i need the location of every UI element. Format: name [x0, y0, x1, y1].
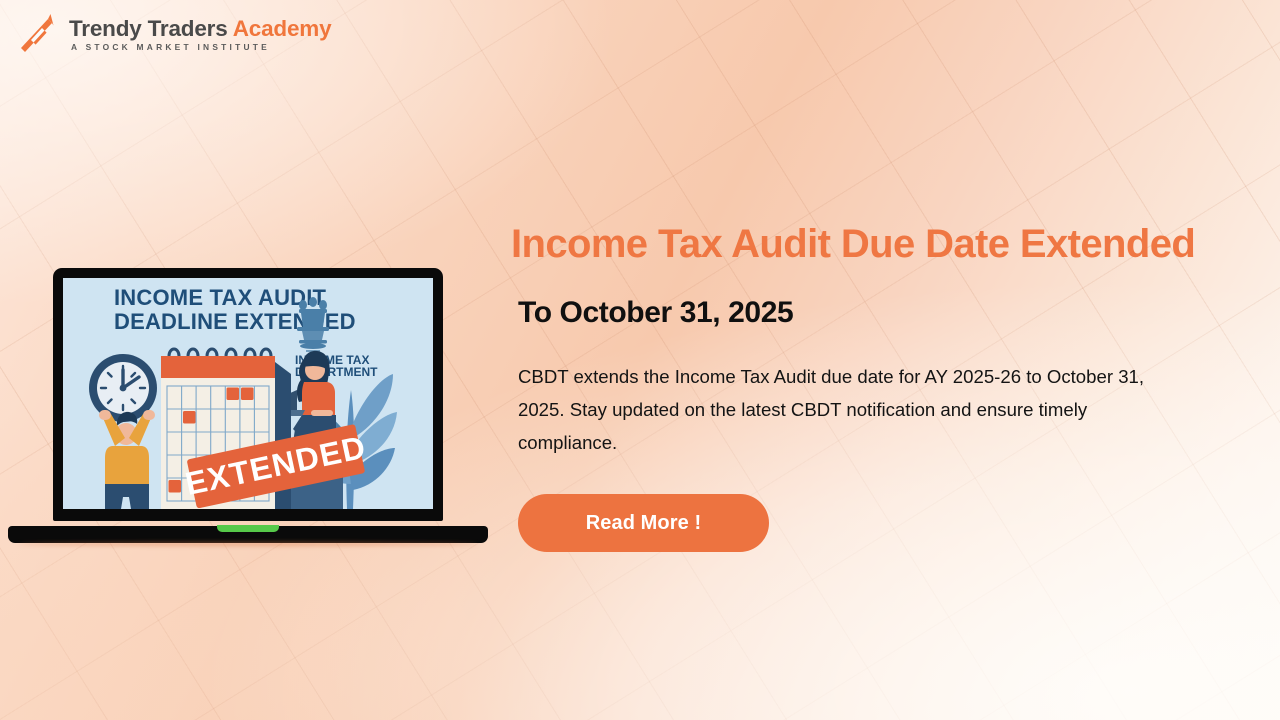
hero-description: CBDT extends the Income Tax Audit due da…	[518, 360, 1190, 459]
laptop-trackpad-indicator	[217, 525, 279, 532]
brand-tagline: A STOCK MARKET INSTITUTE	[69, 42, 331, 52]
page-title: Income Tax Audit Due Date Extended	[511, 222, 1271, 266]
brand-name-accent: Academy	[233, 16, 332, 41]
page-subtitle: To October 31, 2025	[518, 296, 1271, 330]
read-more-button[interactable]: Read More !	[518, 494, 769, 552]
laptop-shadow	[18, 542, 478, 546]
hero-content: Income Tax Audit Due Date Extended To Oc…	[511, 222, 1271, 552]
laptop-lid: INCOME TAX AUDIT DEADLINE EXTENDED INCOM…	[53, 268, 443, 521]
brand-logo[interactable]: Trendy Traders Academy A STOCK MARKET IN…	[18, 12, 331, 56]
laptop-screen: INCOME TAX AUDIT DEADLINE EXTENDED INCOM…	[63, 278, 433, 509]
uptrend-arrow-icon	[18, 12, 60, 56]
brand-name-primary: Trendy Traders	[69, 16, 228, 41]
screen-title-line1: INCOME TAX AUDIT	[114, 285, 327, 310]
laptop-illustration: INCOME TAX AUDIT DEADLINE EXTENDED INCOM…	[8, 268, 488, 543]
brand-name: Trendy Traders Academy	[69, 18, 331, 41]
